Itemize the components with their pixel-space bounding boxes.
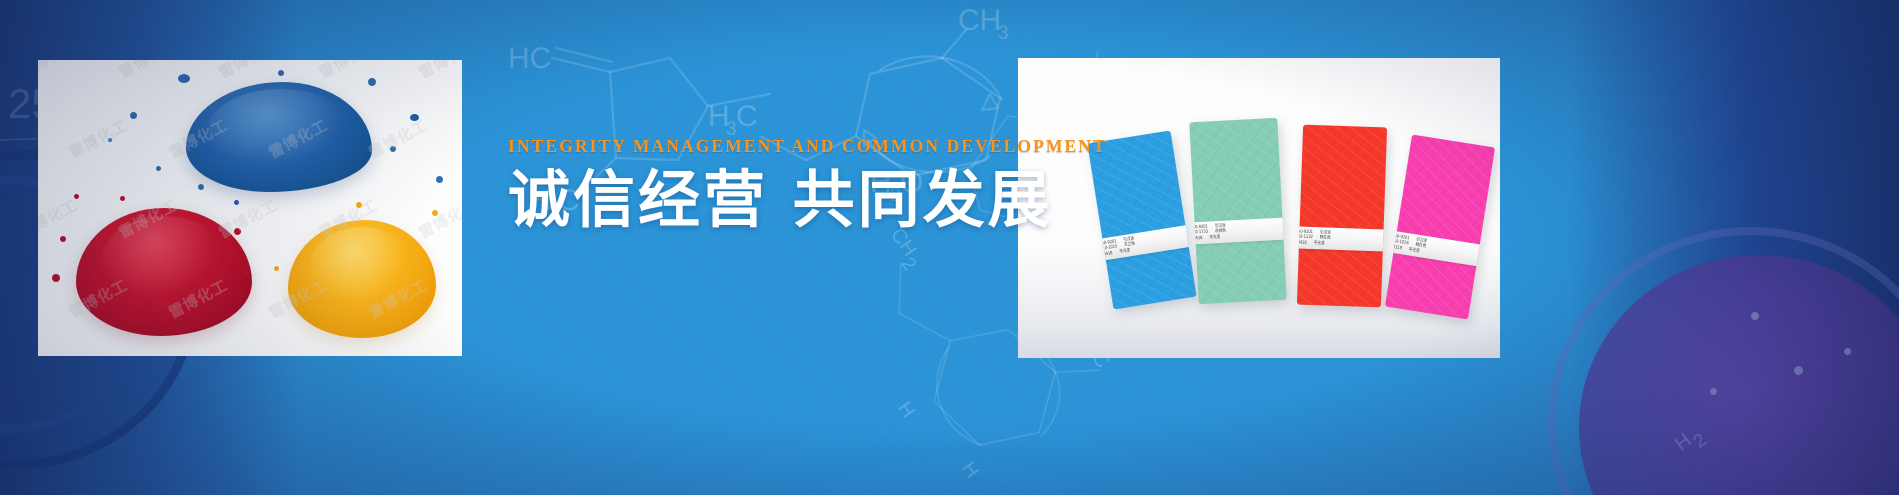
promo-banner: 250 HC H 3 C CH 3 H 3	[0, 0, 1899, 495]
background-vignette	[0, 0, 1899, 495]
